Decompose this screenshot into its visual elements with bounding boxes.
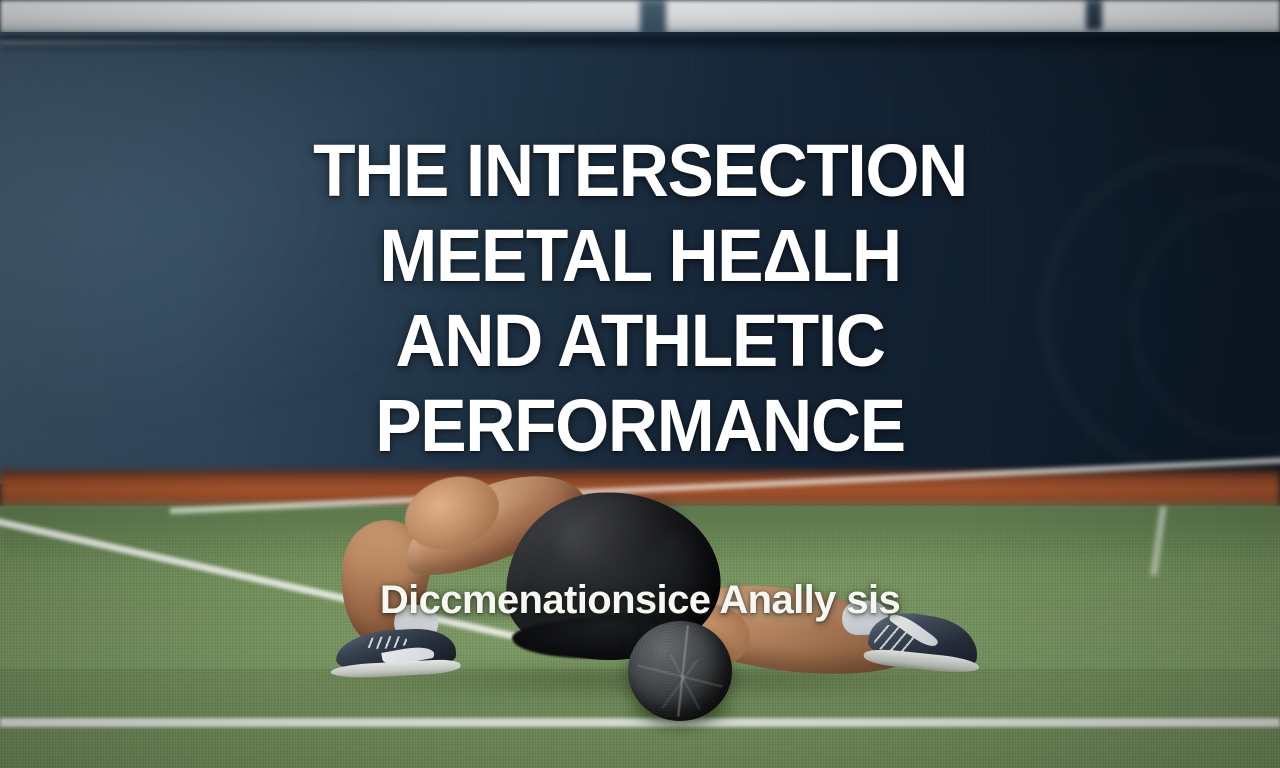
medicine-ball bbox=[628, 621, 732, 721]
athlete-shoe-left bbox=[329, 627, 461, 684]
poster-image: THE INTERSECTION MEETAL HEΔLH AND ATHLET… bbox=[0, 0, 1280, 768]
athlete-figure bbox=[0, 0, 1280, 768]
